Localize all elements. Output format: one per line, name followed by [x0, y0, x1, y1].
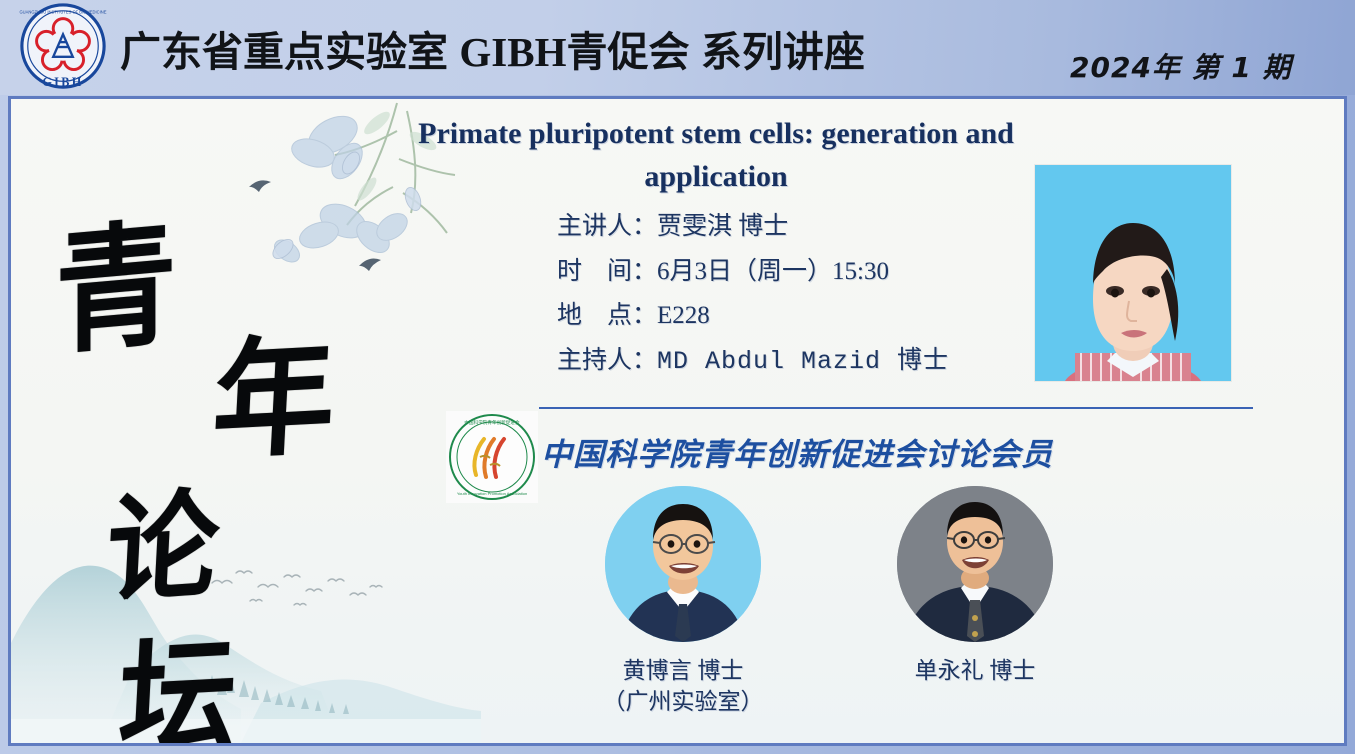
host-name-2-text: 单永礼 博士: [860, 655, 1090, 686]
host-portrait-2: [897, 486, 1053, 642]
detail-value-time: 6月3日（周一）15:30: [657, 258, 889, 285]
gibh-logo-wordmark: GIBH: [42, 75, 83, 89]
detail-row-host: 主持人：MD Abdul Mazid 博士: [557, 339, 949, 385]
detail-value-host: MD Abdul Mazid 博士: [657, 347, 949, 376]
header-title-cn1: 广东省重点实验室: [120, 29, 448, 75]
svg-text:中国科学院青年创新促进会: 中国科学院青年创新促进会: [464, 419, 520, 426]
poster-header: GIBH GUANGZHOU INSTITUTES OF BIOMEDICINE…: [0, 0, 1355, 95]
detail-label-speaker: 主讲人：: [557, 205, 657, 250]
svg-text:Youth Innovation Promotion Ass: Youth Innovation Promotion Association: [457, 491, 527, 496]
header-title-latin: GIBH: [459, 29, 566, 75]
calligraphy-char-3: 论: [104, 486, 222, 612]
detail-label-time: 时 间：: [557, 250, 657, 295]
detail-value-location: E228: [657, 302, 710, 329]
detail-label-host: 主持人：: [557, 339, 657, 384]
detail-value-speaker: 贾雯淇 博士: [657, 213, 788, 240]
talk-title: Primate pluripotent stem cells: generati…: [371, 113, 1061, 198]
association-banner-text: 中国科学院青年创新促进会讨论会员: [541, 429, 1053, 474]
detail-row-location: 地 点：E228: [557, 294, 949, 339]
section-divider: [539, 407, 1253, 409]
detail-label-location: 地 点：: [557, 294, 657, 339]
seminar-poster: GIBH GUANGZHOU INSTITUTES OF BIOMEDICINE…: [0, 0, 1355, 754]
svg-text:GUANGZHOU INSTITUTES OF BIOMED: GUANGZHOU INSTITUTES OF BIOMEDICINE: [19, 10, 106, 15]
calligraphy-char-1: 青: [55, 215, 177, 360]
host-affiliation-1: （广州实验室）: [568, 686, 798, 717]
poster-body: 青 年 论 坛 Primate pluripotent stem cells: …: [11, 99, 1344, 743]
header-title-cn2: 青促会: [567, 29, 690, 75]
detail-row-time: 时 间：6月3日（周一）15:30: [557, 250, 949, 295]
host-name-1-text: 黄博言 博士: [568, 655, 798, 686]
host-portrait-1: [605, 486, 761, 642]
calligraphy-char-4: 坛: [116, 633, 240, 743]
cas-youth-innovation-promotion-association-emblem-icon: 中国科学院青年创新促进会 Youth Innovation Promotion …: [446, 411, 538, 503]
talk-details: 主讲人：贾雯淇 博士 时 间：6月3日（周一）15:30 地 点：E228 主持…: [557, 205, 949, 384]
host-name-1: 黄博言 博士 （广州实验室）: [568, 655, 798, 717]
flying-birds-flock-icon: [206, 553, 396, 623]
gibh-institute-emblem-icon: GIBH GUANGZHOU INSTITUTES OF BIOMEDICINE: [14, 2, 112, 94]
calligraphy-char-2: 年: [210, 330, 339, 465]
header-title-cn3: 系列讲座: [701, 29, 865, 75]
ink-wash-mountain-landscape-icon: [11, 513, 481, 743]
poster-frame: 青 年 论 坛 Primate pluripotent stem cells: …: [8, 96, 1347, 746]
page-title: 广东省重点实验室 GIBH青促会 系列讲座: [120, 18, 865, 78]
speaker-id-photo: [1035, 165, 1231, 381]
detail-row-speaker: 主讲人：贾雯淇 博士: [557, 205, 949, 250]
host-name-2: 单永礼 博士: [860, 655, 1090, 686]
issue-number: 2024年 第 1 期: [1070, 46, 1292, 86]
